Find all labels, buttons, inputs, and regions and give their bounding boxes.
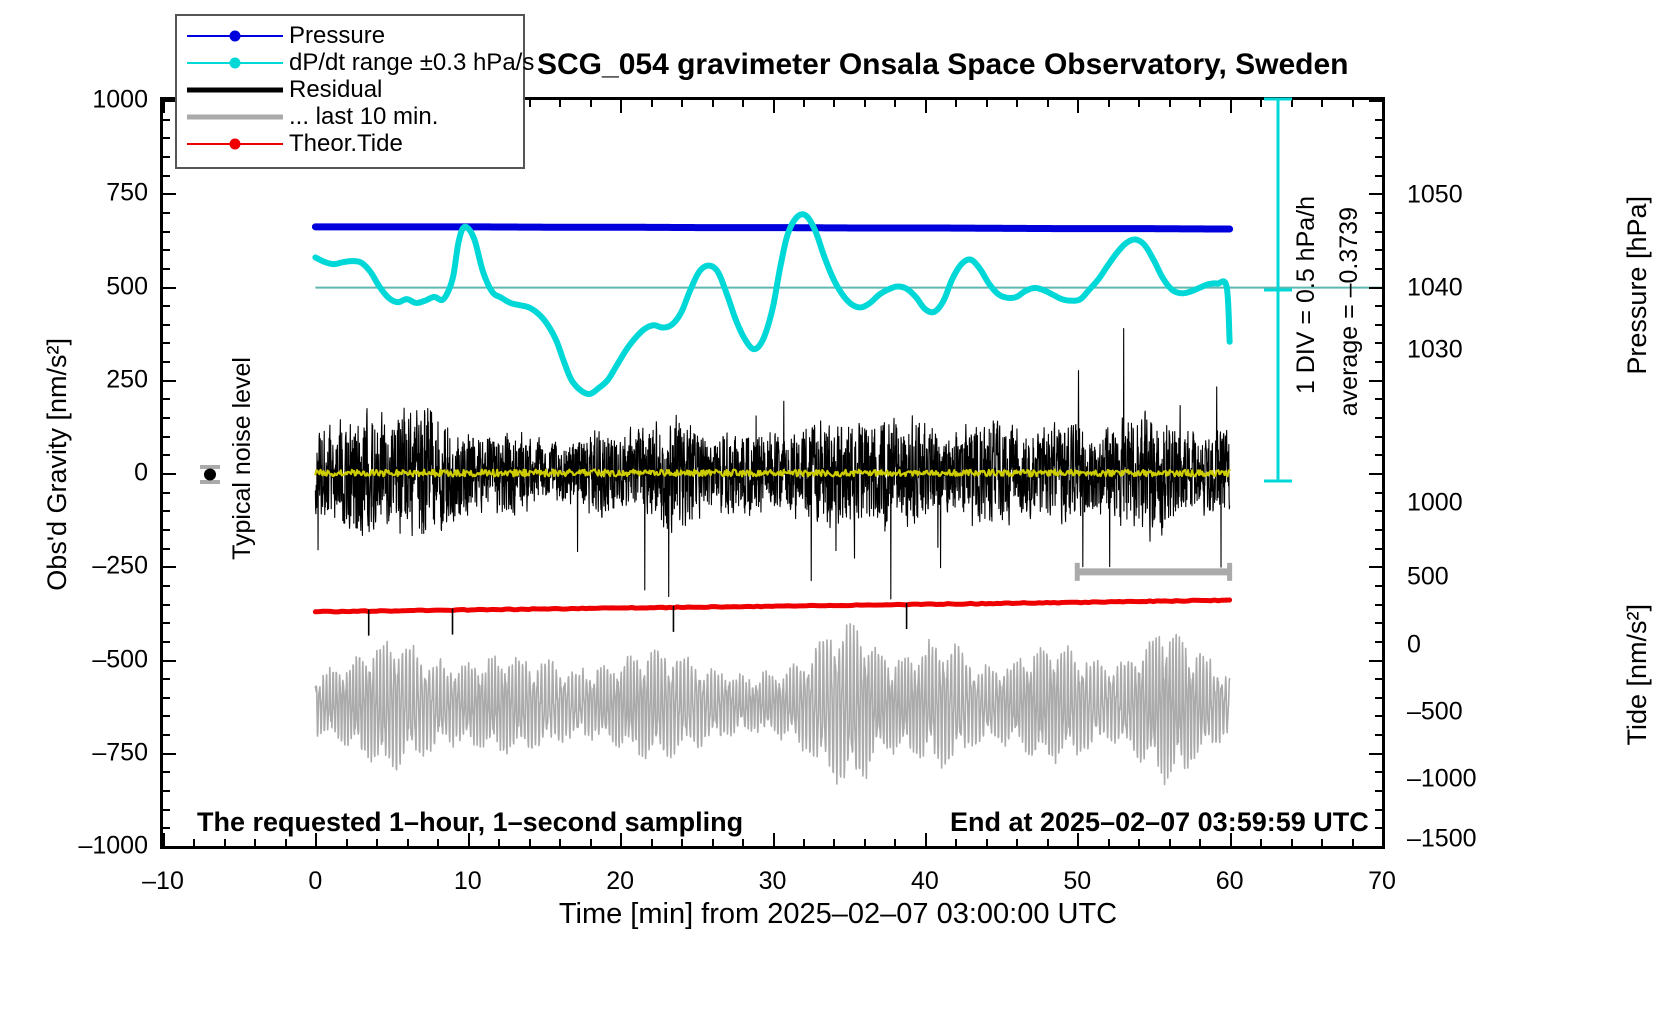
gravimeter-plot-page: SCG_054 gravimeter Onsala Space Observat… <box>0 0 1676 1020</box>
x-tick-label-5: 40 <box>911 867 939 896</box>
axis-tick <box>1199 839 1201 846</box>
axis-tick <box>1352 839 1354 846</box>
axis-tick <box>1199 100 1201 107</box>
axis-tick <box>1169 839 1171 846</box>
axis-tick <box>864 100 866 107</box>
axis-tick <box>1375 231 1382 233</box>
axis-tick <box>742 839 744 846</box>
y-tick-label-left-4: 0 <box>134 459 148 488</box>
y-tick-label-tide-4: –1000 <box>1407 764 1477 793</box>
tick-layer <box>163 100 1382 846</box>
axis-tick <box>163 641 170 643</box>
axis-tick <box>1375 305 1382 307</box>
axis-tick <box>163 268 170 270</box>
axis-tick <box>163 417 170 419</box>
y-tick-label-left-5: –250 <box>92 552 148 581</box>
noise-level-label: Typical noise level <box>228 357 257 560</box>
axis-tick <box>955 100 957 107</box>
axis-tick <box>590 839 592 846</box>
axis-tick <box>1138 100 1140 107</box>
axis-tick <box>1077 100 1079 113</box>
axis-tick <box>1375 137 1382 139</box>
legend-swatch-pressure <box>187 26 283 46</box>
y-tick-label-tide-2: 0 <box>1407 630 1421 659</box>
axis-tick <box>1375 212 1382 214</box>
axis-tick <box>163 342 170 344</box>
y-tick-label-left-8: –1000 <box>78 832 148 861</box>
axis-tick <box>803 100 805 107</box>
axis-tick <box>163 809 170 811</box>
axis-tick <box>1108 100 1110 107</box>
axis-tick <box>864 839 866 846</box>
axis-tick <box>1375 585 1382 587</box>
axis-tick <box>346 839 348 846</box>
axis-tick <box>1375 249 1382 251</box>
axis-tick <box>651 100 653 107</box>
axis-tick <box>1375 324 1382 326</box>
axis-tick <box>559 100 561 107</box>
axis-tick <box>163 585 170 587</box>
y-tick-label-pressure-2: 1030 <box>1407 335 1463 364</box>
axis-tick <box>163 492 170 494</box>
y-tick-label-left-7: –750 <box>92 738 148 767</box>
axis-tick <box>1375 715 1382 717</box>
axis-tick <box>681 100 683 107</box>
x-tick-label-0: –10 <box>142 867 184 896</box>
axis-tick <box>163 361 170 363</box>
axis-tick <box>1169 100 1171 107</box>
axis-tick <box>1369 193 1382 195</box>
noise-level-marker-icon <box>196 455 230 493</box>
axis-tick <box>620 100 622 113</box>
axis-tick <box>1369 100 1382 102</box>
axis-tick <box>1047 839 1049 846</box>
axis-tick <box>773 100 775 113</box>
axis-tick <box>712 100 714 107</box>
axis-tick <box>1369 473 1382 475</box>
y-tick-label-left-1: 750 <box>106 179 148 208</box>
page-title: SCG_054 gravimeter Onsala Space Observat… <box>537 48 1349 82</box>
axis-tick <box>163 846 176 848</box>
y-tick-label-left-6: –500 <box>92 645 148 674</box>
axis-tick <box>224 839 226 846</box>
legend-label-pressure: Pressure <box>283 22 385 50</box>
axis-tick <box>1375 529 1382 531</box>
axis-tick <box>163 660 176 662</box>
legend-label-residual: Residual <box>283 76 382 104</box>
axis-tick <box>1375 492 1382 494</box>
axis-tick <box>163 548 170 550</box>
axis-tick <box>803 839 805 846</box>
axis-tick <box>773 833 775 846</box>
axis-tick <box>1369 287 1382 289</box>
x-tick-label-4: 30 <box>759 867 787 896</box>
axis-tick <box>1375 417 1382 419</box>
x-tick-label-3: 20 <box>606 867 634 896</box>
axis-tick <box>163 249 170 251</box>
axis-tick <box>163 231 170 233</box>
axis-tick <box>1291 839 1293 846</box>
axis-tick <box>1375 622 1382 624</box>
legend-swatch-dpdt <box>187 53 283 73</box>
axis-tick <box>1375 454 1382 456</box>
axis-tick <box>1230 100 1232 113</box>
axis-tick <box>1369 660 1382 662</box>
y-tick-label-left-2: 500 <box>106 272 148 301</box>
axis-tick <box>1375 436 1382 438</box>
axis-tick <box>163 324 170 326</box>
axis-tick <box>437 839 439 846</box>
axis-tick <box>1016 839 1018 846</box>
y-tick-label-pressure-0: 1050 <box>1407 181 1463 210</box>
axis-tick <box>163 436 170 438</box>
axis-tick <box>1375 361 1382 363</box>
axis-tick <box>163 715 170 717</box>
y-tick-label-tide-5: –1500 <box>1407 824 1477 853</box>
legend-swatch-residual <box>187 80 283 100</box>
y-axis-tide-title: Tide [nm/s²] <box>1622 604 1653 746</box>
axis-tick <box>651 839 653 846</box>
axis-tick <box>163 175 170 177</box>
y-tick-label-pressure-1: 1040 <box>1407 273 1463 302</box>
legend-label-tide: Theor.Tide <box>283 130 403 158</box>
x-axis-title: Time [min] from 2025–02–07 03:00:00 UTC <box>0 898 1676 931</box>
axis-tick <box>1321 839 1323 846</box>
axis-tick <box>163 604 170 606</box>
legend-label-last10: ... last 10 min. <box>283 103 438 131</box>
y-tick-label-tide-1: 500 <box>1407 563 1449 592</box>
axis-tick <box>498 839 500 846</box>
axis-tick <box>1016 100 1018 107</box>
axis-tick <box>163 398 170 400</box>
legend-swatch-tide <box>187 134 283 154</box>
axis-tick <box>1375 827 1382 829</box>
axis-tick <box>925 100 927 113</box>
legend-swatch-last10 <box>187 107 283 127</box>
x-tick-label-7: 60 <box>1216 867 1244 896</box>
axis-tick <box>1375 175 1382 177</box>
axis-tick <box>193 839 195 846</box>
axis-tick <box>163 137 170 139</box>
y-axis-left-title: Obs'd Gravity [nm/s²] <box>42 338 73 591</box>
axis-tick <box>163 510 170 512</box>
axis-tick <box>1321 100 1323 107</box>
axis-tick <box>1382 100 1384 113</box>
axis-tick <box>1369 380 1382 382</box>
axis-tick <box>163 771 170 773</box>
axis-tick <box>1352 100 1354 107</box>
axis-tick <box>925 833 927 846</box>
axis-tick <box>163 287 176 289</box>
axis-tick <box>1375 510 1382 512</box>
axis-tick <box>742 100 744 107</box>
axis-tick <box>955 839 957 846</box>
legend-item-pressure: Pressure <box>187 22 513 49</box>
axis-tick <box>1375 790 1382 792</box>
legend-item-residual: Residual <box>187 76 513 103</box>
axis-tick <box>163 529 170 531</box>
axis-tick <box>163 833 165 846</box>
div-scale-bracket-icon <box>1258 96 1298 486</box>
axis-tick <box>163 193 176 195</box>
caption-sampling: The requested 1–hour, 1–second sampling <box>197 807 743 838</box>
legend-item-tide: Theor.Tide <box>187 130 513 157</box>
axis-tick <box>559 839 561 846</box>
axis-tick <box>285 839 287 846</box>
axis-tick <box>1375 604 1382 606</box>
axis-tick <box>1369 846 1382 848</box>
axis-tick <box>986 100 988 107</box>
axis-tick <box>894 839 896 846</box>
axis-tick <box>712 839 714 846</box>
axis-tick <box>163 212 170 214</box>
axis-tick <box>163 734 170 736</box>
axis-tick <box>1375 268 1382 270</box>
axis-tick <box>163 473 176 475</box>
axis-tick <box>529 839 531 846</box>
axis-tick <box>163 454 170 456</box>
axis-tick <box>163 380 176 382</box>
axis-tick <box>1375 771 1382 773</box>
axis-tick <box>163 790 170 792</box>
axis-tick <box>1138 839 1140 846</box>
y-axis-pressure-title: Pressure [hPa] <box>1622 196 1653 375</box>
axis-tick <box>833 100 835 107</box>
axis-tick <box>1375 398 1382 400</box>
axis-tick <box>1382 833 1384 846</box>
axis-tick <box>1047 100 1049 107</box>
axis-tick <box>407 839 409 846</box>
axis-tick <box>1375 678 1382 680</box>
x-tick-label-2: 10 <box>454 867 482 896</box>
legend-label-dpdt: dP/dt range ±0.3 hPa/s <box>283 49 534 77</box>
axis-tick <box>1375 342 1382 344</box>
axis-tick <box>681 839 683 846</box>
axis-tick <box>163 566 176 568</box>
axis-tick <box>163 678 170 680</box>
axis-tick <box>254 839 256 846</box>
legend-item-last10: ... last 10 min. <box>187 103 513 130</box>
axis-tick <box>163 156 170 158</box>
axis-tick <box>1369 753 1382 755</box>
y-tick-label-left-0: 1000 <box>92 86 148 115</box>
axis-tick <box>1375 809 1382 811</box>
axis-tick <box>163 622 170 624</box>
axis-tick <box>1260 839 1262 846</box>
y-tick-label-tide-0: 1000 <box>1407 488 1463 517</box>
axis-tick <box>163 697 170 699</box>
axis-tick <box>163 753 176 755</box>
axis-tick <box>529 100 531 107</box>
y-tick-label-left-3: 250 <box>106 365 148 394</box>
axis-tick <box>1375 156 1382 158</box>
axis-tick <box>986 839 988 846</box>
caption-end-time: End at 2025–02–07 03:59:59 UTC <box>950 807 1369 838</box>
axis-tick <box>1375 734 1382 736</box>
legend: Pressure dP/dt range ±0.3 hPa/s Residual… <box>175 14 525 169</box>
axis-tick <box>1108 839 1110 846</box>
axis-tick <box>163 119 170 121</box>
y-tick-label-tide-3: –500 <box>1407 697 1463 726</box>
x-tick-label-6: 50 <box>1063 867 1091 896</box>
axis-tick <box>1375 119 1382 121</box>
axis-tick <box>376 839 378 846</box>
plot-frame <box>160 97 1385 849</box>
x-tick-label-1: 0 <box>308 867 322 896</box>
average-annotation: average = –0.3739 <box>1335 207 1364 416</box>
axis-tick <box>1369 566 1382 568</box>
axis-tick <box>1375 548 1382 550</box>
axis-tick <box>163 305 170 307</box>
legend-item-dpdt: dP/dt range ±0.3 hPa/s <box>187 49 513 76</box>
axis-tick <box>894 100 896 107</box>
axis-tick <box>590 100 592 107</box>
x-tick-label-8: 70 <box>1368 867 1396 896</box>
axis-tick <box>1375 641 1382 643</box>
axis-tick <box>1375 697 1382 699</box>
axis-tick <box>833 839 835 846</box>
axis-tick <box>163 100 165 113</box>
axis-tick <box>163 827 170 829</box>
